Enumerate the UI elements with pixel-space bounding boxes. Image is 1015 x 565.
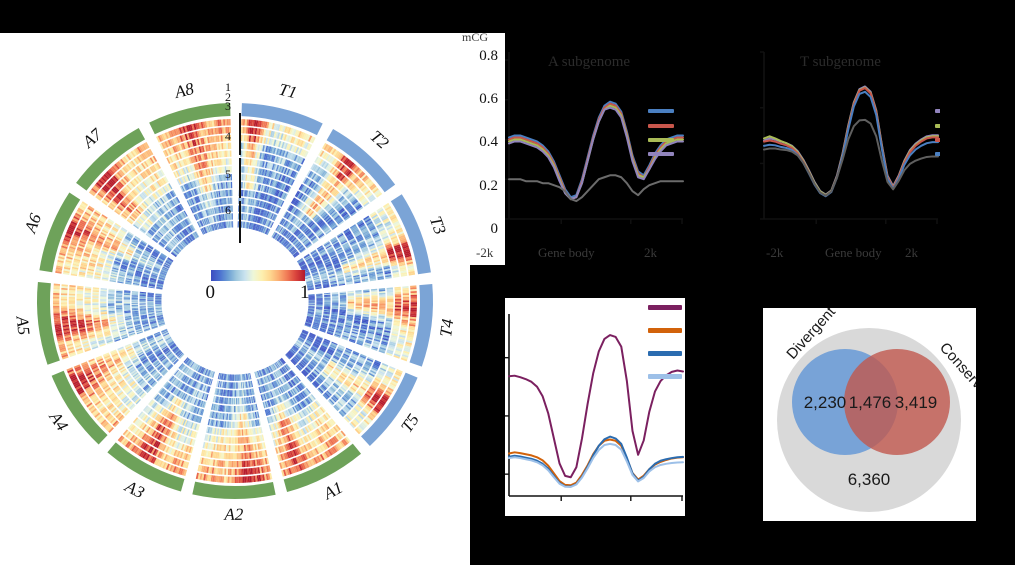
circos-label-T1: T1 <box>277 80 299 103</box>
circos-heatmap-cell <box>387 305 393 307</box>
circos-heatmap-cell <box>411 302 417 304</box>
circos-heatmap-cell <box>237 398 238 404</box>
circos-heatmap-cell <box>332 303 338 304</box>
circos-heatmap-cell <box>356 303 362 304</box>
circos-heatmap-cell <box>240 477 242 483</box>
circos-heatmap-cell <box>233 477 235 483</box>
circos-heatmap-cell <box>232 398 233 404</box>
circos-heatmap-cell <box>411 304 417 306</box>
circos-heatmap-cell <box>230 422 232 428</box>
circos-heatmap-cell <box>242 461 244 467</box>
circos-heatmap-cell <box>234 382 235 388</box>
circos-heatmap-cell <box>237 469 239 475</box>
circos-heatmap-cell <box>379 302 385 304</box>
circos-heatmap-cell <box>231 477 233 483</box>
circos-heatmap-cell <box>364 303 370 305</box>
circos-heatmap-cell <box>371 301 377 302</box>
circos-heatmap-cell <box>239 445 241 451</box>
circos-heatmap-cell <box>395 307 401 309</box>
circos-heatmap-cell <box>237 422 238 428</box>
circos-heatmap-cell <box>324 301 330 302</box>
circos-heatmap-cell <box>395 292 401 294</box>
circos-heatmap-cell <box>234 390 235 396</box>
circos-heatmap-cell <box>395 299 401 301</box>
circos-heatmap-cell <box>224 476 226 482</box>
circos-heatmap-cell <box>316 299 322 300</box>
circos-heatmap-cell <box>332 297 338 298</box>
circos-heatmap-cell <box>235 469 237 475</box>
circos-heatmap-cell <box>395 295 401 297</box>
circos-heatmap-cell <box>235 430 236 436</box>
circos-heatmap-cell <box>237 453 239 459</box>
circos-label-T2: T2 <box>366 127 392 153</box>
circos-heatmap-cell <box>364 301 370 302</box>
circos-heatmap-cell <box>387 299 393 301</box>
circos-heatmap-cell <box>316 302 322 303</box>
circos-heatmap-cell <box>229 477 231 483</box>
circos-heatmap-cell <box>316 301 322 302</box>
circos-heatmap-cell <box>238 453 240 459</box>
circos-heatmap-cell <box>340 298 346 299</box>
circos-heatmap-cell <box>241 127 243 133</box>
circos-heatmap-cell <box>237 461 239 467</box>
circos-heatmap-cell <box>379 305 385 307</box>
circos-heatmap-cell <box>230 469 232 475</box>
circos-heatmap-cell <box>228 461 230 467</box>
circos-heatmap-cell <box>233 398 234 404</box>
circos-ring-A2 <box>192 482 275 499</box>
circos-heatmap-cell <box>235 453 237 459</box>
circos-heatmap-cell <box>232 461 234 467</box>
circos-heatmap-cell <box>371 299 377 300</box>
circos-heatmap-cell <box>411 308 417 310</box>
circos-heatmap-cell <box>379 304 385 306</box>
circos-heatmap-cell <box>244 476 246 482</box>
circos-heatmap-cell <box>241 453 243 459</box>
circos-heatmap-cell <box>234 437 235 443</box>
circos-heatmap-cell <box>411 300 417 302</box>
circos-heatmap-cell <box>232 390 233 396</box>
circos-heatmap-cell <box>348 299 354 300</box>
circos-heatmap-cell <box>348 302 354 303</box>
circos-heatmap-cell <box>316 302 322 303</box>
circos-heatmap-cell <box>363 295 369 297</box>
circos-heatmap-cell <box>411 293 417 295</box>
circos-heatmap-cell <box>240 469 242 475</box>
circos-heatmap-cell <box>235 406 236 412</box>
circos-heatmap-cell <box>236 422 237 428</box>
circos-heatmap-cell <box>232 445 234 451</box>
circos-heatmap-cell <box>236 437 238 443</box>
circos-heatmap-cell <box>241 119 243 125</box>
circos-heatmap-cell <box>238 461 240 467</box>
circos-label-A1: A1 <box>320 478 346 504</box>
circos-heatmap-cell <box>363 296 369 298</box>
circos-heatmap-cell <box>233 375 234 381</box>
circos-heatmap-cell <box>238 430 240 436</box>
circos-heatmap-cell <box>348 304 354 305</box>
circos-heatmap-cell <box>237 390 238 396</box>
circos-heatmap-cell <box>233 453 235 459</box>
circos-heatmap-cell <box>237 477 239 483</box>
circos-heatmap-cell <box>403 304 409 306</box>
circos-heatmap-cell <box>356 297 362 298</box>
circos-heatmap-cell <box>332 301 338 302</box>
circos-heatmap-cell <box>324 300 330 301</box>
circos-heatmap-cell <box>236 390 237 396</box>
circos-label-T5: T5 <box>397 410 423 436</box>
circos-heatmap-cell <box>332 300 338 301</box>
circos-heatmap-cell <box>226 469 228 475</box>
circos-heatmap-cell <box>403 295 409 297</box>
circos-heatmap-cell <box>411 295 417 297</box>
circos-heatmap-cell <box>348 298 354 299</box>
circos-label-A3: A3 <box>121 476 147 502</box>
circos-heatmap-cell <box>403 302 409 304</box>
circos-heatmap-cell <box>229 445 231 451</box>
circos-label-A2: A2 <box>223 505 243 524</box>
circos-heatmap-cell <box>395 297 401 299</box>
circos-heatmap-cell <box>238 469 240 475</box>
circos-heatmap-cell <box>340 297 346 298</box>
circos-heatmap-cell <box>348 303 354 304</box>
circos-heatmap-cell <box>356 302 362 303</box>
circos-heatmap-cell <box>242 469 244 475</box>
circos-heatmap-cell <box>243 127 245 133</box>
circos-heatmap-cell <box>233 406 234 412</box>
circos-heatmap-cell <box>235 414 236 420</box>
circos-heatmap-cell <box>228 453 230 459</box>
circos-heatmap-cell <box>379 296 385 298</box>
circos-heatmap-cell <box>403 300 409 302</box>
circos-heatmap-cell <box>356 299 362 300</box>
circos-heatmap-cell <box>231 430 233 436</box>
circos-heatmap-cell <box>387 302 393 304</box>
circos-heatmap-cell <box>240 453 242 459</box>
circos-heatmap-cell <box>324 303 330 304</box>
circos-heatmap-cell <box>403 307 409 309</box>
circos-heatmap-cell <box>238 445 240 451</box>
circos-heatmap-cell <box>226 461 228 467</box>
circos-heatmap-cell <box>229 437 231 443</box>
circos-heatmap-cell <box>236 406 237 412</box>
circos-heatmap-cell <box>234 430 235 436</box>
circos-heatmap-cell <box>239 477 241 483</box>
circos-heatmap-cell <box>232 406 233 412</box>
circos-heatmap-cell <box>237 406 238 412</box>
circos-label-A4: A4 <box>45 407 72 435</box>
circos-heatmap-cell <box>236 375 237 381</box>
circos-heatmap-cell <box>411 299 417 301</box>
circos-heatmap-cell <box>387 296 393 298</box>
circos-heatmap-cell <box>232 453 234 459</box>
circos-heatmap-cell <box>233 469 235 475</box>
circos-heatmap-cell <box>238 437 240 443</box>
circos-heatmap-cell <box>233 414 234 420</box>
circos-heatmap-cell <box>403 299 409 301</box>
circos-heatmap-cell <box>340 299 346 300</box>
circos-heatmap-cell <box>231 414 232 420</box>
circos-heatmap-cell <box>379 297 385 299</box>
circos-heatmap-cell <box>395 304 401 306</box>
circos-heatmap-cell <box>316 300 322 301</box>
circos-heatmap-cell <box>235 382 236 388</box>
circos-heatmap-cell <box>235 422 236 428</box>
circos-heatmap-cell <box>410 291 416 293</box>
circos-heatmap-cell <box>348 301 354 302</box>
circos-heatmap-cell <box>356 301 362 302</box>
circos-heatmap-cell <box>230 445 232 451</box>
circos-heatmap-cell <box>234 398 235 404</box>
circos-heatmap-cell <box>235 375 236 381</box>
circos-heatmap-cell <box>379 299 385 301</box>
circos-heatmap-cell <box>237 414 238 420</box>
circos-heatmap-cell <box>411 297 417 299</box>
circos-heatmap-cell <box>403 306 409 308</box>
circos-heatmap-cell <box>236 445 238 451</box>
circos-heatmap-cell <box>364 298 370 299</box>
circos-heatmap-cell <box>379 307 385 309</box>
circos-heatmap-cell <box>403 309 409 311</box>
circos-heatmap-cell <box>236 414 237 420</box>
circos-heatmap-cell <box>364 299 370 300</box>
circos-heatmap-cell <box>227 453 229 459</box>
circos-heatmap-cell <box>403 293 409 295</box>
circos-heatmap-cell <box>242 476 244 482</box>
circos-heatmap-cell <box>395 294 401 296</box>
circos-heatmap-cell <box>387 297 393 299</box>
circos-heatmap-cell <box>226 476 228 482</box>
circos-heatmap-cell <box>236 430 237 436</box>
circos-heatmap-cell <box>233 461 235 467</box>
circos-heatmap-cell <box>363 305 369 307</box>
circos-heatmap-cell <box>234 375 235 381</box>
circos-heatmap-cell <box>395 300 401 302</box>
circos-heatmap-cell <box>232 437 234 443</box>
circos-heatmap-cell <box>332 302 338 303</box>
circos-heatmap-cell <box>235 461 237 467</box>
circos-heatmap-cell <box>324 302 330 303</box>
circos-heatmap-cell <box>229 429 231 435</box>
circos-heatmap-cell <box>231 437 233 443</box>
circos-heatmap-cell <box>233 445 235 451</box>
circos-heatmap-cell <box>233 382 234 388</box>
circos-heatmap-cell <box>240 461 242 467</box>
circos-heatmap-cell <box>235 445 237 451</box>
circos-heatmap-cell <box>340 302 346 303</box>
circos-heatmap-cell <box>239 429 241 435</box>
circos-heatmap-cell <box>371 303 377 305</box>
circos-heatmap-cell <box>410 310 416 312</box>
circos-heatmap-cell <box>387 304 393 306</box>
circos-label-T3: T3 <box>426 214 450 237</box>
circos-heatmap-cell <box>371 305 377 307</box>
circos-heatmap-cell <box>371 295 377 297</box>
circos-heatmap-cell <box>236 398 237 404</box>
circos-heatmap-cell <box>387 307 393 309</box>
circos-heatmap-cell <box>232 422 233 428</box>
circos-heatmap-cell <box>234 422 235 428</box>
circos-heatmap-cell <box>235 477 237 483</box>
circos-heatmap-cell <box>332 299 338 300</box>
circos-heatmap-cell <box>233 390 234 396</box>
circos-heatmap-cell <box>239 422 241 428</box>
circos-heatmap-cell <box>340 303 346 304</box>
circos-heatmap-cell <box>228 469 230 475</box>
circos-heatmap-cell <box>387 294 393 296</box>
circos-heatmap-cell <box>403 291 409 293</box>
circos-heatmap-cell <box>371 298 377 300</box>
circos-heatmap-cell <box>231 422 232 428</box>
circos-heatmap-cell <box>230 453 232 459</box>
circos-heatmap-cell <box>379 301 385 303</box>
circos-heatmap-cell <box>231 469 233 475</box>
circos-heatmap-cell <box>340 301 346 302</box>
circos-heatmap-cell <box>243 119 245 125</box>
circos-heatmap-cell <box>371 296 377 298</box>
circos-heatmap-cell <box>348 297 354 298</box>
circos-heatmap-cell <box>387 300 393 302</box>
circos-heatmap-cell <box>356 298 362 299</box>
circos-heatmap-cell <box>236 382 237 388</box>
circos-heatmap-cell <box>411 306 417 308</box>
circos-heatmap-cell <box>242 135 244 141</box>
circos-heatmap-cell <box>234 406 235 412</box>
circos-heatmap-cell <box>232 430 233 436</box>
circos-heatmap-cell <box>235 437 236 443</box>
circos-heatmap-cell <box>371 302 377 304</box>
circos-heatmap-cell <box>395 305 401 307</box>
circos-heatmap-cell <box>235 398 236 404</box>
circos-heatmap-cell <box>235 390 236 396</box>
circos-heatmap-cell <box>324 299 330 300</box>
circos-heatmap-cell <box>395 302 401 304</box>
circos-heatmap-cell <box>356 304 362 305</box>
circos-heatmap-cell <box>230 461 232 467</box>
circos-heatmap-cell <box>239 437 241 443</box>
circos-heatmap-cell <box>403 297 409 299</box>
circos-heatmap-cell <box>234 414 235 420</box>
circos-heatmap-cell <box>379 294 385 296</box>
circos-heatmap-cell <box>364 302 370 303</box>
circos-heatmap-cell <box>227 477 229 483</box>
